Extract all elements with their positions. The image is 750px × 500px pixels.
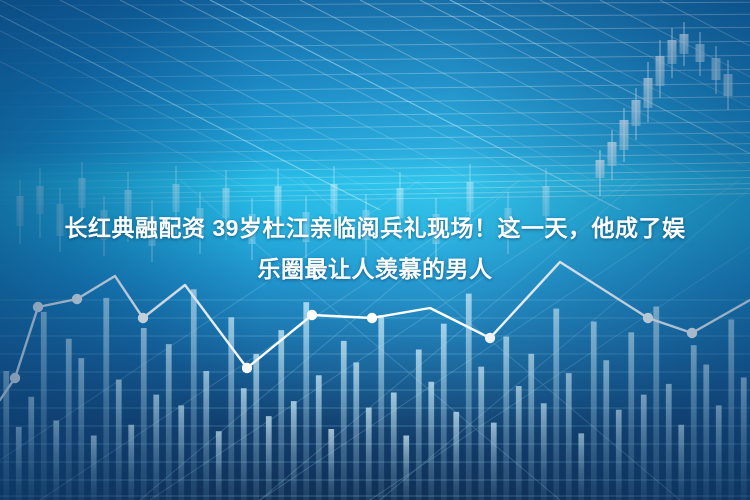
headline-text: 长红典融配资 39岁杜江亲临阅兵礼现场！这一天，他成了娱 乐圈最让人羡慕的男人 bbox=[0, 208, 750, 290]
headline-line-1: 长红典融配资 39岁杜江亲临阅兵礼现场！这一天，他成了娱 bbox=[22, 208, 728, 249]
banner-root: 长红典融配资 39岁杜江亲临阅兵礼现场！这一天，他成了娱 乐圈最让人羡慕的男人 bbox=[0, 0, 750, 500]
headline-line-2: 乐圈最让人羡慕的男人 bbox=[22, 249, 728, 290]
